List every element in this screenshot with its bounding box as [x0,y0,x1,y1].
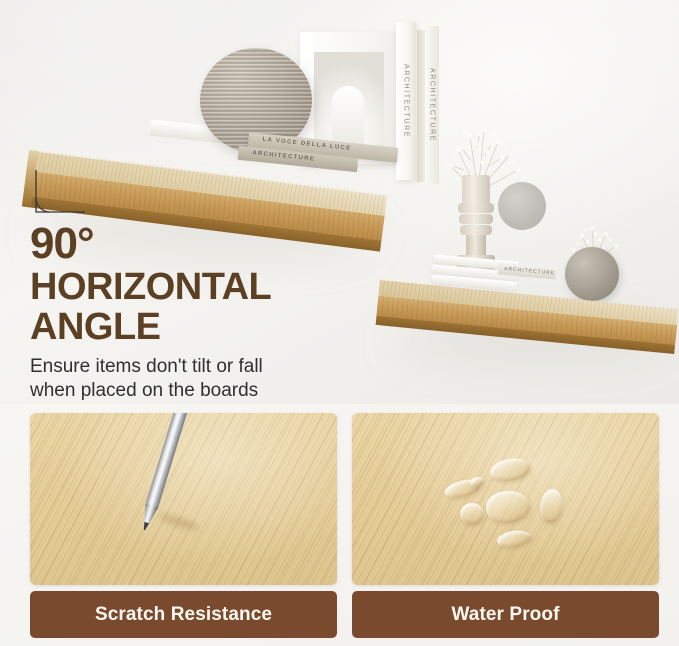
stone-sphere-vase [565,247,619,301]
book-spine-architecture: ARCHITECTURE [396,22,416,180]
headline-line-1: HORIZONTAL [30,268,360,308]
book-spine-label-2: ARCHITECTURE [429,68,436,142]
waterproof-test-photo [352,413,659,585]
feature-label-bar-water: Water Proof [352,591,659,638]
subtitle-line-2: when placed on the boards [30,379,360,403]
headline-line-2: ANGLE [30,308,360,348]
vase-ring-2 [459,214,493,224]
screwdriver-tip [139,503,158,530]
vase-stem [466,235,486,257]
subtitle-line-1: Ensure items don't tilt or fall [30,355,360,379]
subtitle: Ensure items don't tilt or fall when pla… [30,355,360,404]
headline-block: 90° HORIZONTAL ANGLE Ensure items don't … [30,222,360,404]
water-droplet [460,503,484,525]
feature-label-scratch: Scratch Resistance [95,604,272,626]
book-spine-label: ARCHITECTURE [403,64,410,138]
book-tag-label: ARCHITECTURE [504,266,556,276]
screwdriver-tip-point [142,522,149,531]
feature-card-scratch-resistance: Scratch Resistance [30,413,337,638]
book-title-label-2: ARCHITECTURE [252,150,315,163]
feature-card-water-proof: Water Proof [352,413,659,638]
vase-neck [462,175,490,205]
floating-shelf-lower [376,280,679,355]
scratch-test-photo [30,413,337,585]
vase-ring-1 [458,203,494,213]
product-feature-image: ARCHITECTURE ARCHITECTURE LA VOCE DELLA … [0,0,679,646]
wall-disc-decor [498,182,546,230]
book-spine-architecture-2: ARCHITECTURE [425,26,439,184]
degrees-heading: 90° [30,222,360,266]
hero-shelf-scene: ARCHITECTURE ARCHITECTURE LA VOCE DELLA … [0,0,679,404]
right-angle-indicator [33,168,87,220]
vase-ring-3 [460,225,492,235]
feature-label-bar-scratch: Scratch Resistance [30,591,337,638]
feature-label-water: Water Proof [451,604,559,626]
